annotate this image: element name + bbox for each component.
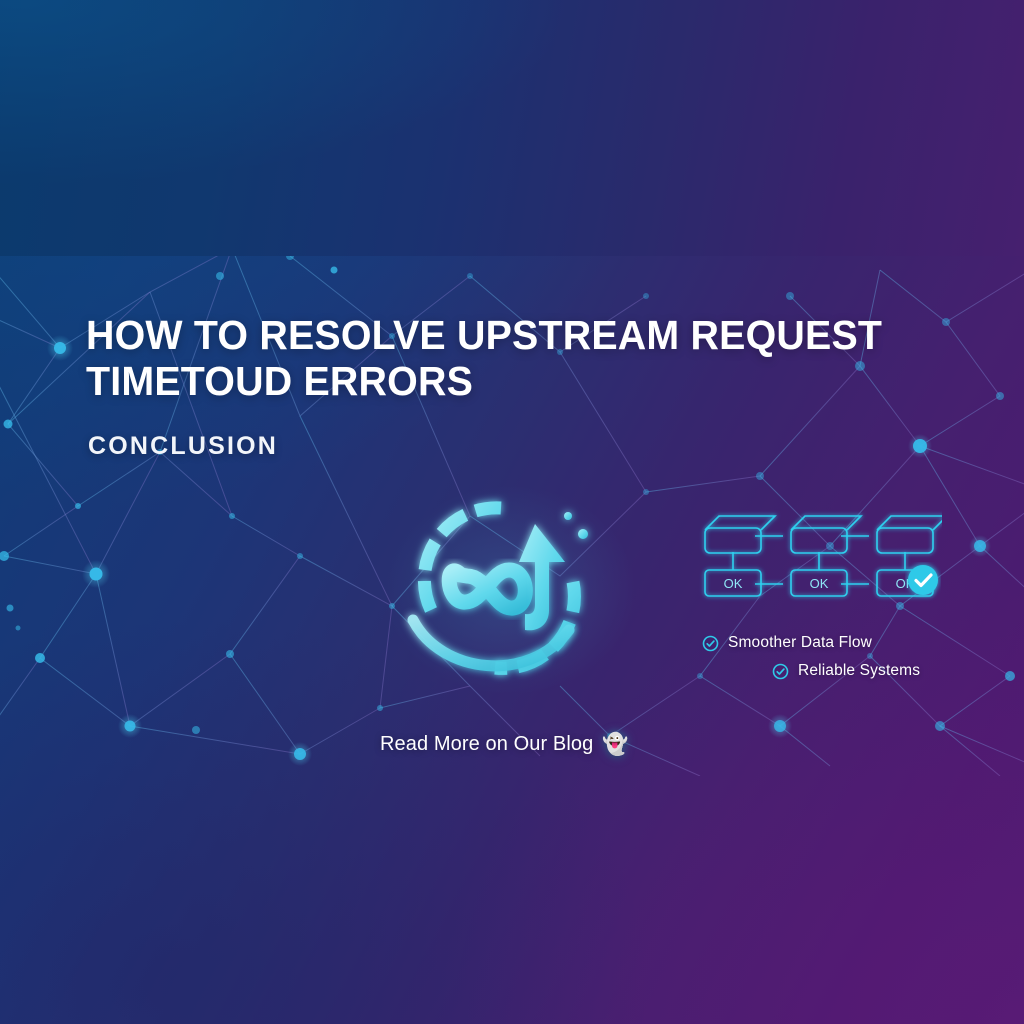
feature-label: Reliable Systems — [798, 662, 920, 680]
background-top-band — [0, 0, 1024, 256]
node-status-label: OK — [724, 576, 743, 591]
check-circle-filled-icon — [905, 562, 941, 598]
refresh-infinity-arrow-icon — [383, 478, 618, 693]
node-status-label: OK — [810, 576, 829, 591]
check-circle-outline-icon — [772, 663, 789, 680]
ghost-emoji-icon: 👻 — [602, 734, 628, 755]
cta-label: Read More on Our Blog — [380, 733, 593, 756]
feature-label: Smoother Data Flow — [728, 634, 872, 652]
feature-item: Reliable Systems — [772, 662, 972, 680]
page-title: How to Resolve Upstream Request Timetoud… — [86, 312, 892, 404]
read-more-cta[interactable]: Read More on Our Blog 👻 — [380, 733, 629, 756]
section-subtitle: Conclusion — [88, 432, 278, 461]
feature-item: Smoother Data Flow — [702, 634, 972, 652]
feature-list: Smoother Data Flow Reliable Systems — [702, 634, 972, 690]
banner-canvas: How to Resolve Upstream Request Timetoud… — [0, 0, 1024, 1024]
check-circle-outline-icon — [702, 635, 719, 652]
